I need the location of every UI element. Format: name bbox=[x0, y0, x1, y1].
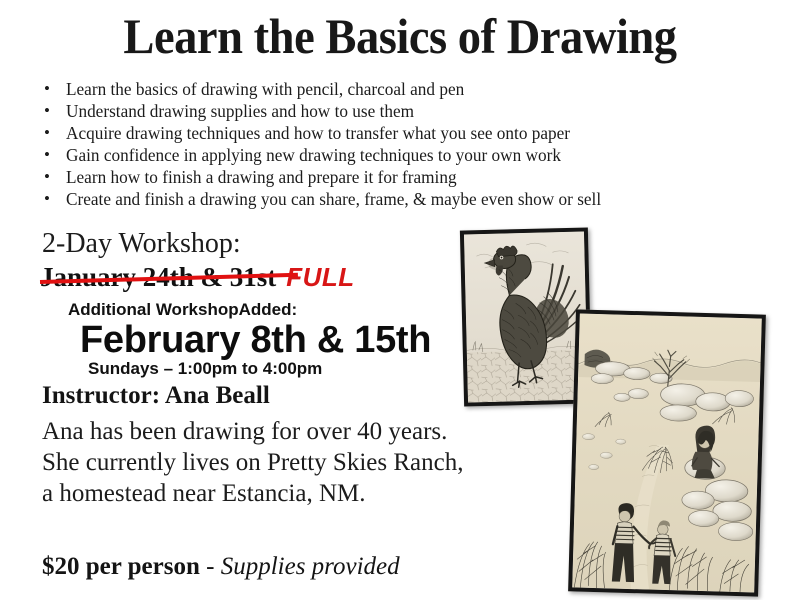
flyer-page: Learn the Basics of Drawing • Learn the … bbox=[0, 0, 800, 600]
benefits-list: • Learn the basics of drawing with penci… bbox=[44, 78, 764, 210]
bio-line: a homestead near Estancia, NM. bbox=[42, 478, 562, 509]
new-workshop-date: February 8th & 15th bbox=[80, 318, 431, 362]
bullet-icon: • bbox=[44, 122, 66, 144]
list-item-label: Understand drawing supplies and how to u… bbox=[66, 100, 754, 122]
rooster-drawing bbox=[460, 227, 592, 406]
list-item: • Learn how to finish a drawing and prep… bbox=[44, 166, 764, 188]
landscape-drawing-image bbox=[572, 314, 762, 593]
workshop-time: Sundays – 1:00pm to 4:00pm bbox=[88, 358, 322, 379]
cancelled-date: January 24th & 31st bbox=[40, 262, 276, 292]
list-item: • Understand drawing supplies and how to… bbox=[44, 100, 764, 122]
price-note: Supplies provided bbox=[221, 553, 400, 580]
instructor-bio: Ana has been drawing for over 40 years. … bbox=[42, 416, 562, 509]
list-item-label: Learn how to finish a drawing and prepar… bbox=[66, 166, 754, 188]
bullet-icon: • bbox=[44, 144, 66, 166]
list-item: • Learn the basics of drawing with penci… bbox=[44, 78, 764, 100]
status-badge-full: FULL bbox=[286, 262, 354, 292]
list-item-label: Acquire drawing techniques and how to tr… bbox=[66, 122, 754, 144]
bullet-icon: • bbox=[44, 100, 66, 122]
bullet-icon: • bbox=[44, 166, 66, 188]
list-item-label: Create and finish a drawing you can shar… bbox=[66, 188, 754, 210]
list-item: • Acquire drawing techniques and how to … bbox=[44, 122, 764, 144]
price-separator: - bbox=[200, 553, 221, 580]
cancelled-date-row: January 24th & 31stFULL bbox=[40, 262, 355, 292]
bullet-icon: • bbox=[44, 188, 66, 210]
additional-workshop-label: Additional WorkshopAdded: bbox=[68, 299, 297, 320]
price-amount: $20 per person bbox=[42, 553, 200, 580]
list-item-label: Learn the basics of drawing with pencil,… bbox=[66, 78, 754, 100]
bullet-icon: • bbox=[44, 78, 66, 100]
page-title: Learn the Basics of Drawing bbox=[28, 8, 772, 64]
bio-line: Ana has been drawing for over 40 years. bbox=[42, 416, 562, 447]
workshop-label: 2-Day Workshop: bbox=[42, 228, 241, 260]
list-item: • Gain confidence in applying new drawin… bbox=[44, 144, 764, 166]
landscape-drawing bbox=[568, 309, 766, 596]
list-item-label: Gain confidence in applying new drawing … bbox=[66, 144, 754, 166]
list-item: • Create and finish a drawing you can sh… bbox=[44, 188, 764, 210]
bio-line: She currently lives on Pretty Skies Ranc… bbox=[42, 447, 562, 478]
rooster-drawing-image bbox=[464, 232, 588, 403]
price-row: $20 per person - Supplies provided bbox=[42, 552, 400, 582]
instructor-name: Instructor: Ana Beall bbox=[42, 381, 270, 411]
